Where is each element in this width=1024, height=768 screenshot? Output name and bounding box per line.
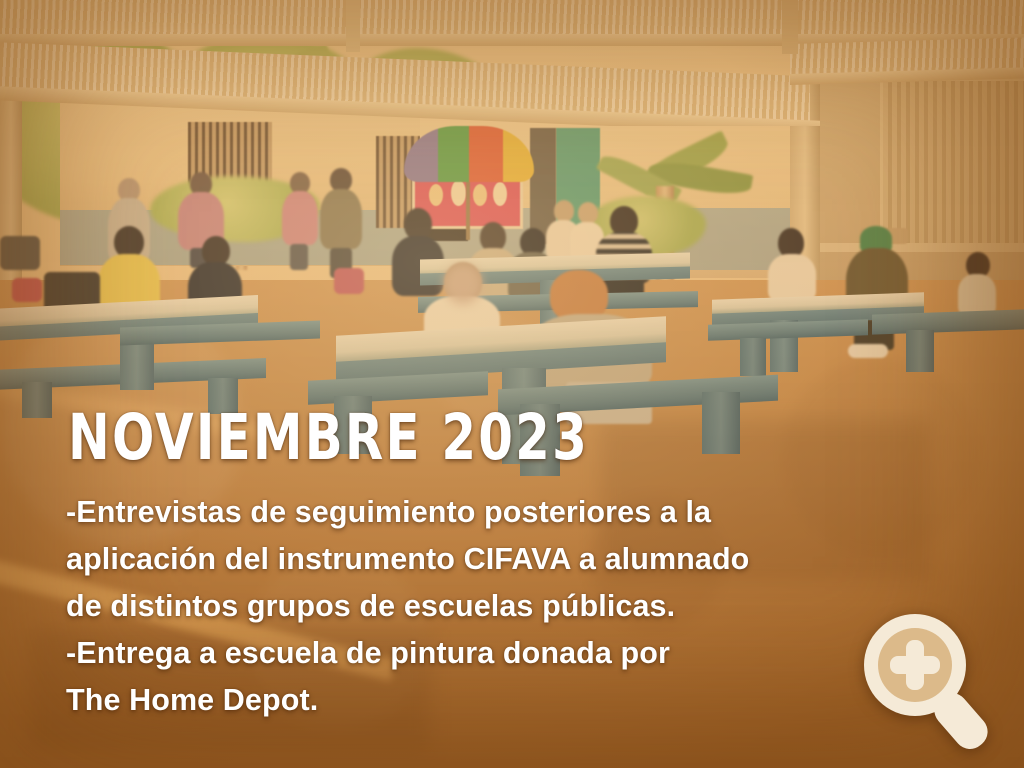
caption-line: de distintos grupos de escuelas públicas… bbox=[66, 583, 946, 630]
magnifier-plus-icon[interactable] bbox=[858, 606, 998, 754]
caption-body: -Entrevistas de seguimiento posteriores … bbox=[66, 489, 946, 724]
caption-line: -Entrevistas de seguimiento posteriores … bbox=[66, 489, 946, 536]
caption-overlay: NOVIEMBRE 2023 -Entrevistas de seguimien… bbox=[0, 0, 1024, 768]
zoom-in-button[interactable] bbox=[858, 606, 998, 754]
caption-line: The Home Depot. bbox=[66, 677, 946, 724]
caption-line: aplicación del instrumento CIFAVA a alum… bbox=[66, 536, 946, 583]
caption-line: -Entrega a escuela de pintura donada por bbox=[66, 630, 946, 677]
page-title: NOVIEMBRE 2023 bbox=[68, 406, 589, 469]
slide-image: NOVIEMBRE 2023 -Entrevistas de seguimien… bbox=[0, 0, 1024, 768]
